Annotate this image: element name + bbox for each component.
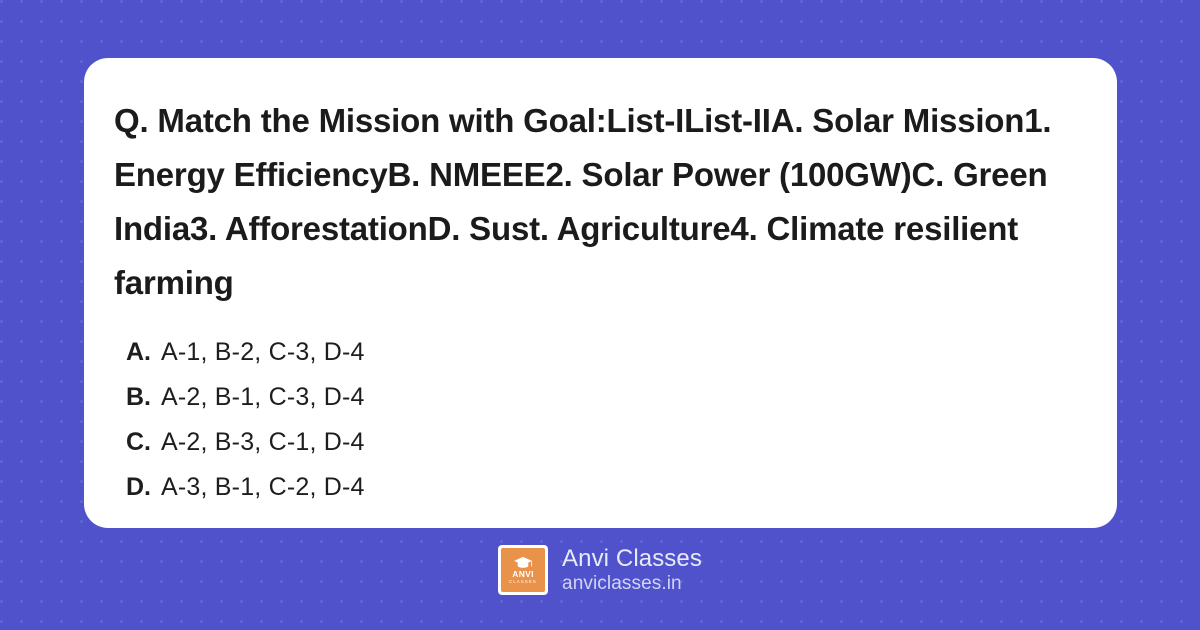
question-text: Q. Match the Mission with Goal:List-ILis… [114,94,1064,310]
option-a-text: A-1, B-2, C-3, D-4 [161,338,365,367]
footer-branding: ANVI CLASSES Anvi Classes anviclasses.in [0,545,1200,595]
option-a[interactable]: A. A-1, B-2, C-3, D-4 [114,338,1077,383]
option-d-text: A-3, B-1, C-2, D-4 [161,473,365,502]
option-c-text: A-2, B-3, C-1, D-4 [161,428,365,457]
logo-inner-tile: ANVI CLASSES [501,548,545,592]
brand-url[interactable]: anviclasses.in [562,573,702,594]
option-c-letter: C. [126,428,151,457]
anvi-logo: ANVI CLASSES [498,545,548,595]
logo-name-text: ANVI [512,570,534,579]
option-b-text: A-2, B-1, C-3, D-4 [161,383,365,412]
graduation-cap-icon [513,556,533,569]
option-c[interactable]: C. A-2, B-3, C-1, D-4 [114,428,1077,473]
option-d[interactable]: D. A-3, B-1, C-2, D-4 [114,473,1077,518]
option-b-letter: B. [126,383,151,412]
option-b[interactable]: B. A-2, B-1, C-3, D-4 [114,383,1077,428]
question-card: Q. Match the Mission with Goal:List-ILis… [84,58,1117,528]
slide-canvas: Q. Match the Mission with Goal:List-ILis… [0,0,1200,630]
brand-text-block: Anvi Classes anviclasses.in [562,546,702,594]
logo-subtitle-text: CLASSES [509,580,537,584]
brand-title: Anvi Classes [562,546,702,573]
options-list: A. A-1, B-2, C-3, D-4 B. A-2, B-1, C-3, … [114,338,1077,518]
option-a-letter: A. [126,338,151,367]
option-d-letter: D. [126,473,151,502]
